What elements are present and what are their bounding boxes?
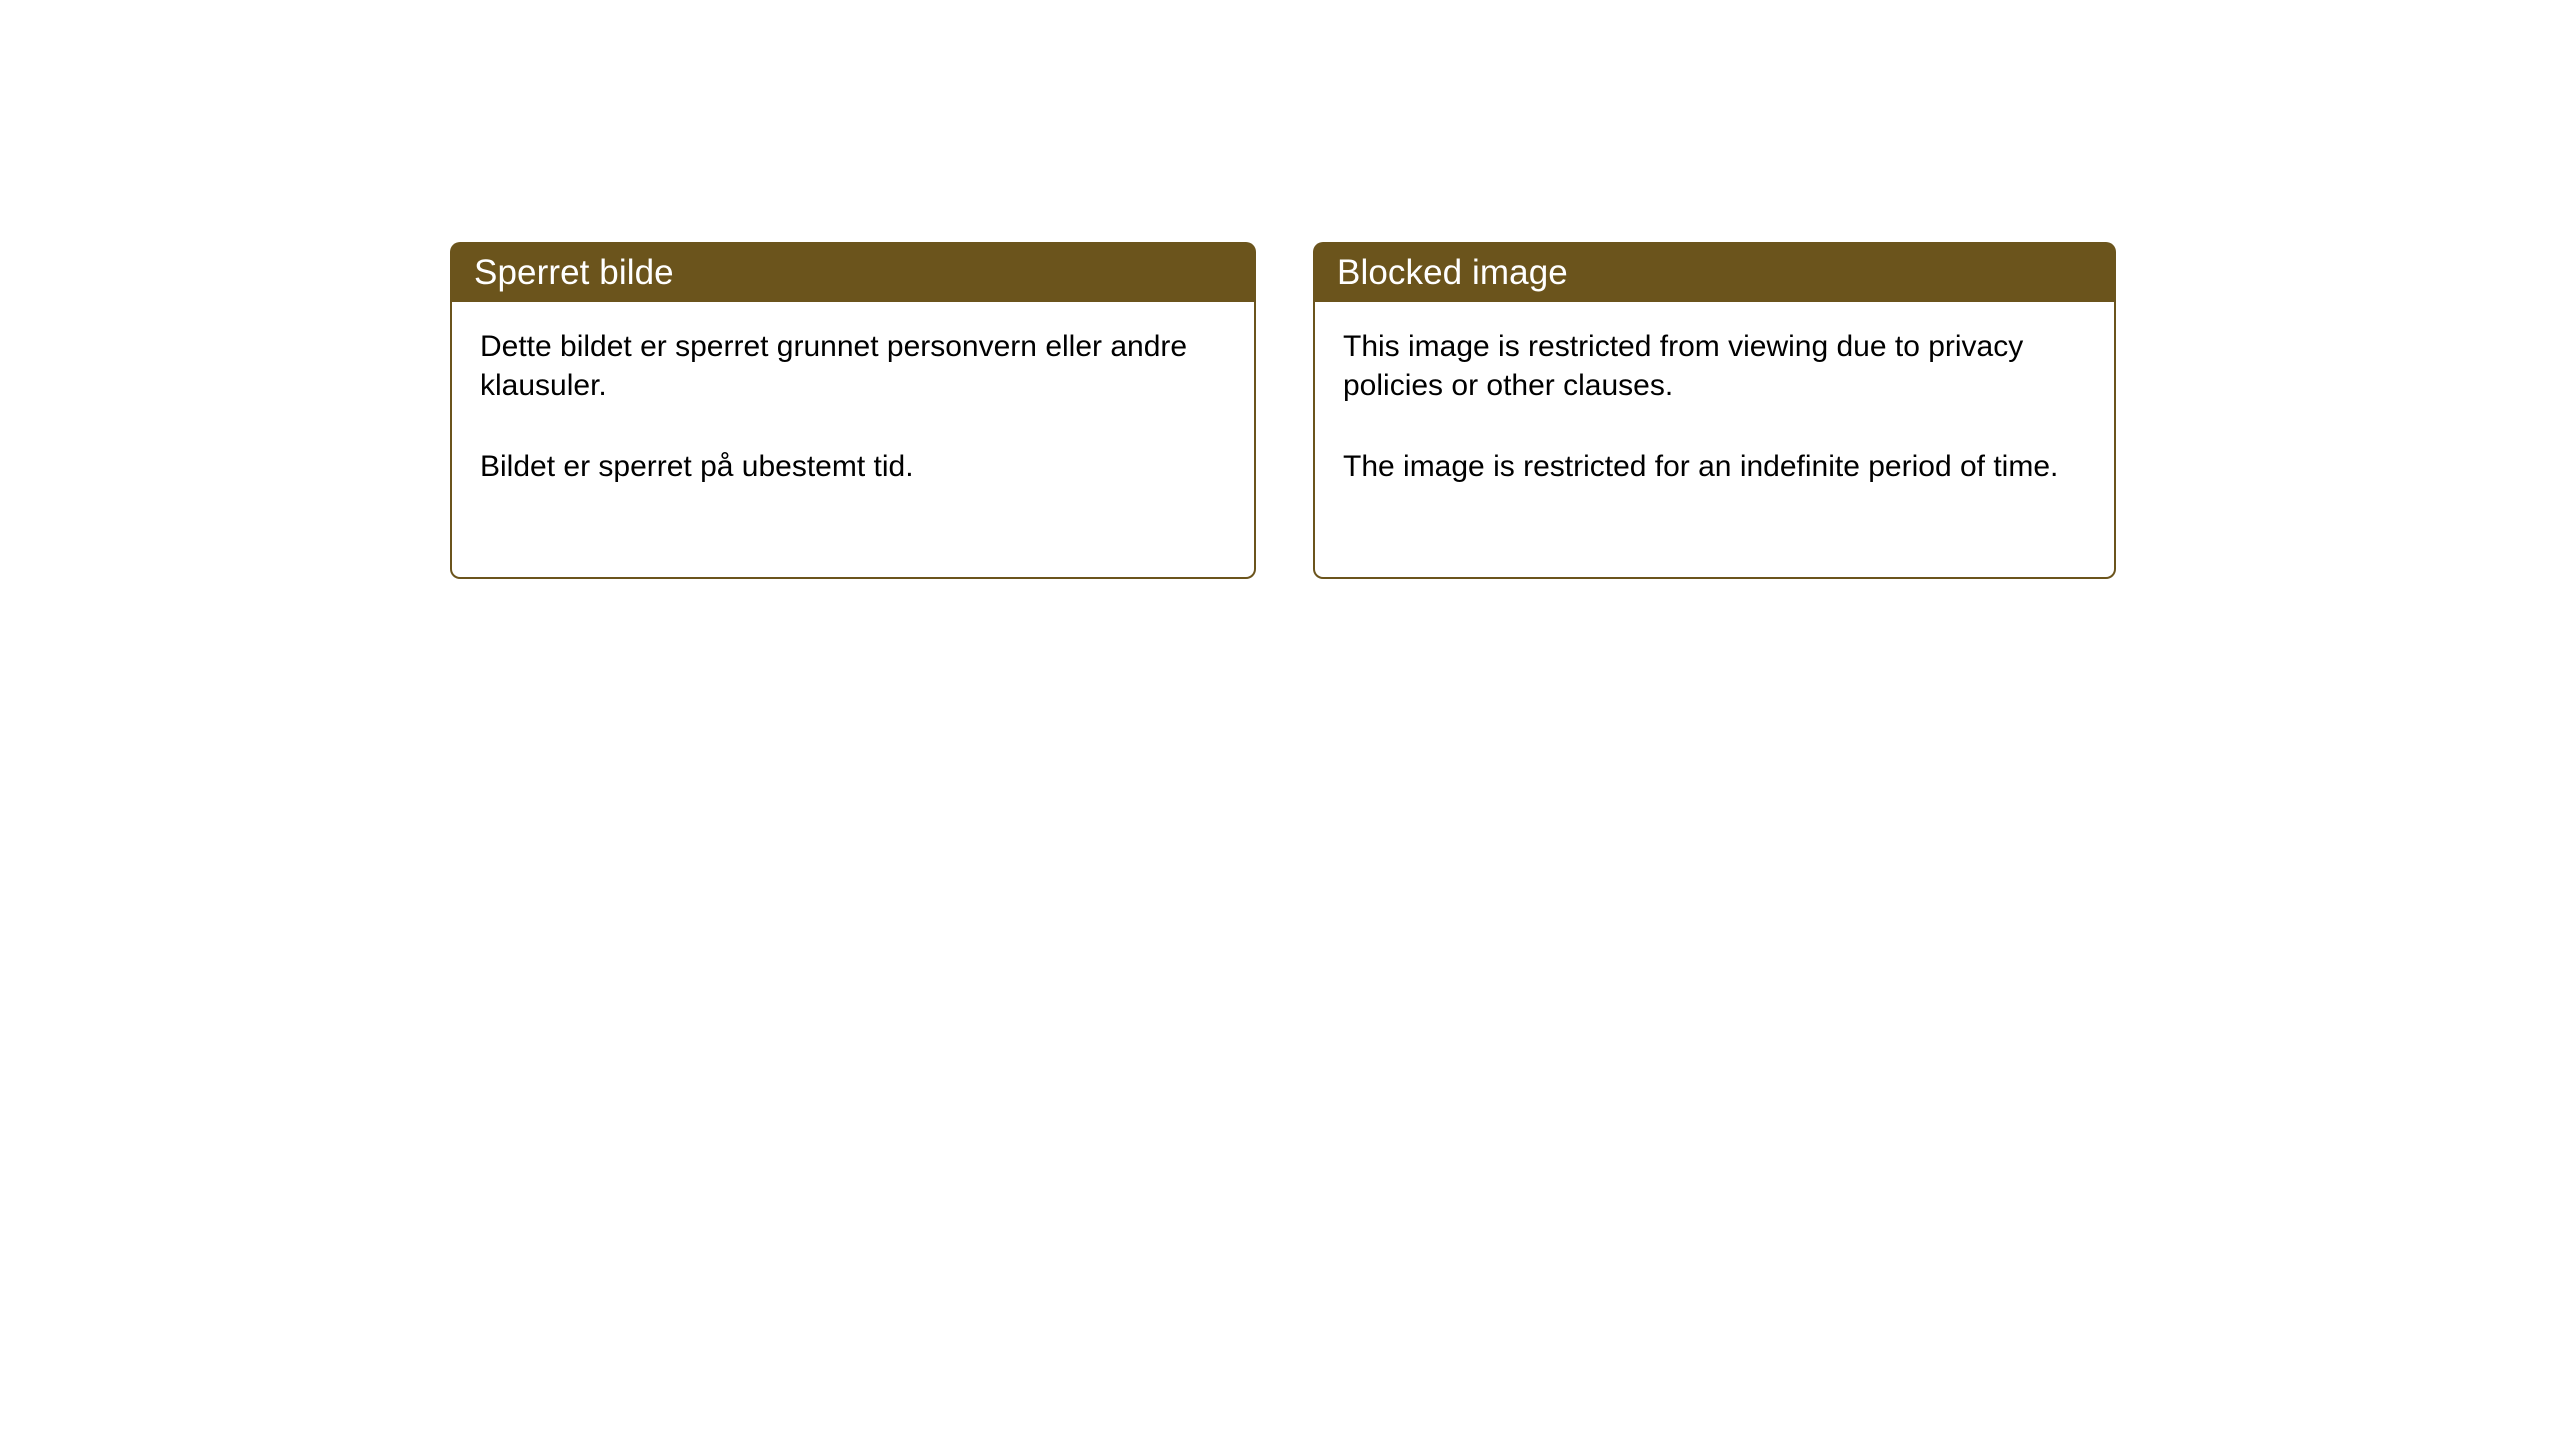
notice-title-en: Blocked image — [1337, 255, 1568, 290]
notice-header-no: Sperret bilde — [450, 242, 1256, 302]
notice-paragraph-duration-no: Bildet er sperret på ubestemt tid. — [480, 447, 1232, 486]
notice-paragraph-duration-en: The image is restricted for an indefinit… — [1343, 447, 2092, 486]
notice-body-en: This image is restricted from viewing du… — [1313, 301, 2116, 579]
page-canvas: Sperret bilde Dette bildet er sperret gr… — [0, 0, 2560, 1440]
notice-body-no: Dette bildet er sperret grunnet personve… — [450, 301, 1256, 579]
notice-header-en: Blocked image — [1313, 242, 2116, 302]
blocked-image-notice-card-en: Blocked image This image is restricted f… — [1313, 242, 2116, 579]
notice-paragraph-reason-en: This image is restricted from viewing du… — [1343, 327, 2092, 405]
blocked-image-notice-card-no: Sperret bilde Dette bildet er sperret gr… — [450, 242, 1256, 579]
notice-paragraph-reason-no: Dette bildet er sperret grunnet personve… — [480, 327, 1232, 405]
notice-title-no: Sperret bilde — [474, 255, 674, 290]
